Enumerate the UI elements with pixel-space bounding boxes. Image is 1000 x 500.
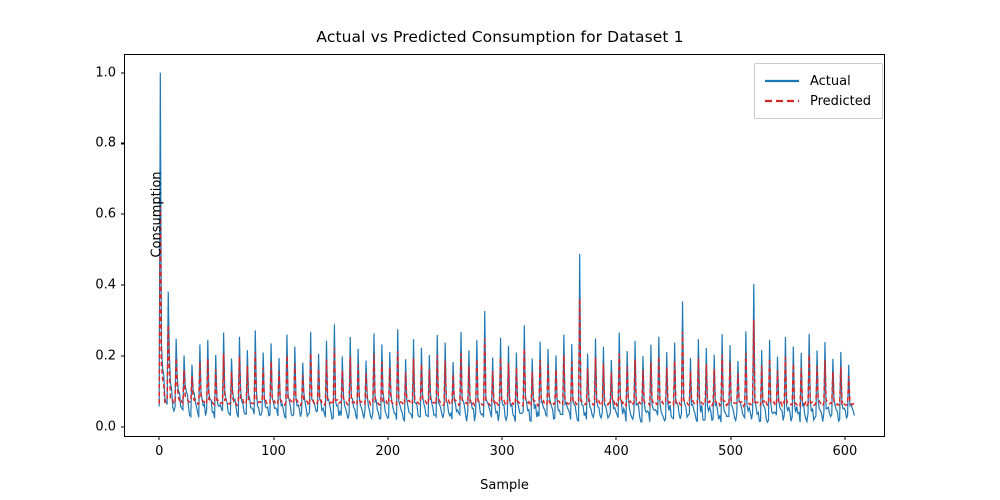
chart-legend: Actual Predicted [754,63,883,119]
x-tick-mark [502,436,503,440]
x-tick-mark [273,436,274,440]
legend-item-predicted: Predicted [764,91,871,111]
y-tick-mark [121,72,125,73]
y-tick-mark [121,426,125,427]
x-axis-label: Sample [125,478,884,493]
y-tick-mark [121,355,125,356]
y-tick-mark [121,143,125,144]
legend-line-actual-icon [764,74,800,88]
figure-canvas: Actual vs Predicted Consumption for Data… [0,0,1000,500]
x-tick-mark [387,436,388,440]
legend-label-actual: Actual [810,74,851,89]
legend-line-predicted-icon [764,94,800,108]
x-tick-mark [159,436,160,440]
legend-label-predicted: Predicted [810,94,871,109]
x-tick-mark [844,436,845,440]
x-tick-mark [730,436,731,440]
plot-axes: Consumption Sample 0.00.20.40.60.81.0 01… [124,54,885,437]
chart-title: Actual vs Predicted Consumption for Data… [0,28,1000,46]
legend-item-actual: Actual [764,71,871,91]
y-tick-mark [121,214,125,215]
x-tick-mark [616,436,617,440]
y-tick-mark [121,285,125,286]
series-line-predicted [159,206,854,406]
y-axis-label: Consumption [150,135,165,295]
